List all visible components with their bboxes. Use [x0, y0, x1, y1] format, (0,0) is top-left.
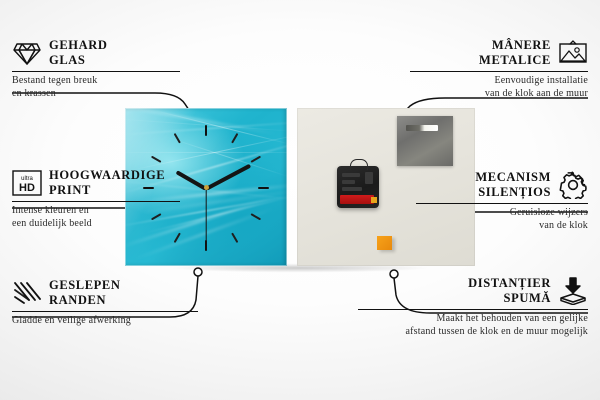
hand-s: [205, 187, 206, 249]
clock-hour-mark: [258, 187, 269, 189]
feature-silent-mechanism: MECANISM SILENȚIOS Geruisloze wijzers va…: [416, 170, 588, 232]
infographic-canvas: GEHARD GLAS Bestand tegen breuk en krass…: [0, 0, 600, 400]
feature-description: Gladde en veilige afwerking: [12, 315, 198, 328]
feature-description: Maakt het behouden van een gelijke afsta…: [358, 313, 588, 338]
orange-foam-spacer: [377, 236, 392, 250]
hand-center-cap: [204, 185, 209, 190]
clock-hour-mark: [205, 125, 207, 136]
movement-vent: [342, 173, 360, 177]
feature-description: Eenvoudige installatie van de klok aan d…: [410, 75, 588, 100]
metal-keyhole-hanger: [397, 116, 453, 166]
feature-divider: [416, 203, 588, 204]
hand-h: [176, 170, 207, 190]
feature-title: GEHARD GLAS: [49, 38, 107, 68]
clock-hour-mark: [231, 133, 238, 144]
feature-title: GESLEPEN RANDEN: [49, 278, 121, 308]
quartz-clock-movement: [337, 166, 379, 208]
gear-icon: [558, 170, 588, 200]
clock-hour-mark: [174, 233, 181, 244]
feature-title: MÂNERE METALICE: [479, 38, 551, 68]
feature-divider: [410, 71, 588, 72]
feature-foam-spacer: DISTANȚIER SPUMĂ Maakt het behouden van …: [358, 276, 588, 338]
diamond-icon: [12, 38, 42, 68]
movement-hanging-loop: [350, 159, 368, 170]
svg-text:HD: HD: [19, 182, 35, 194]
down-arrow-stack-icon: [558, 276, 588, 306]
feature-description: Bestand tegen breuk en krassen: [12, 75, 180, 100]
feature-divider: [12, 71, 180, 72]
hanger-slot: [406, 125, 438, 131]
feature-description: Intense kleuren en een duidelijk beeld: [12, 205, 180, 230]
diagonal-lines-icon: [12, 278, 42, 308]
feature-description: Geruisloze wijzers van de klok: [416, 207, 588, 232]
feature-ground-edges: GESLEPEN RANDEN Gladde en veilige afwerk…: [12, 278, 198, 328]
feature-title: HOOGWAARDIGE PRINT: [49, 168, 165, 198]
feature-title: MECANISM SILENȚIOS: [475, 170, 551, 200]
ultra-hd-icon: ultra HD: [12, 168, 42, 198]
movement-vent: [342, 180, 355, 184]
feature-high-quality-print: ultra HD HOOGWAARDIGE PRINT Intense kleu…: [12, 168, 180, 230]
clock-hour-mark: [151, 156, 162, 163]
movement-dial: [365, 172, 373, 184]
feature-title: DISTANȚIER SPUMĂ: [468, 276, 551, 306]
feature-tempered-glass: GEHARD GLAS Bestand tegen breuk en krass…: [12, 38, 180, 100]
movement-vent: [342, 187, 362, 191]
feature-metal-handles: MÂNERE METALICE Eenvoudige installatie v…: [410, 38, 588, 100]
clock-hour-mark: [174, 133, 181, 144]
feature-divider: [358, 309, 588, 310]
aa-battery: [340, 195, 374, 204]
hand-m: [205, 163, 251, 190]
battery-terminal: [371, 197, 377, 203]
clock-hour-mark: [251, 213, 262, 220]
clock-hour-mark: [231, 233, 238, 244]
clock-hour-mark: [251, 156, 262, 163]
feature-divider: [12, 201, 180, 202]
feature-divider: [12, 311, 198, 312]
picture-frame-icon: [558, 38, 588, 68]
